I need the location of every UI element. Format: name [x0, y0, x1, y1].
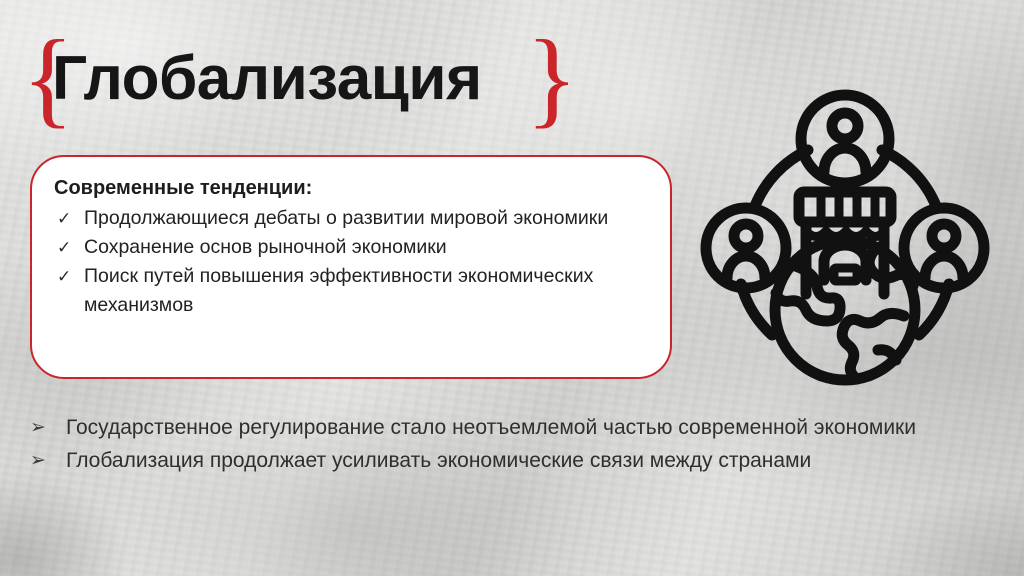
- list-item-label: Поиск путей повышения эффективности экон…: [84, 265, 593, 316]
- check-icon: ✓: [57, 204, 71, 233]
- list-item-label: Государственное регулирование стало неот…: [66, 416, 916, 439]
- right-brace-decoration: }: [526, 25, 578, 133]
- global-market-network-icon: [700, 88, 990, 398]
- arrow-bullet-icon: ➢: [30, 445, 46, 476]
- person-circle-right-icon: [904, 208, 984, 288]
- list-item: ➢ Глобализация продолжает усиливать экон…: [24, 445, 944, 476]
- globe-icon: [775, 240, 915, 380]
- conclusions-list: ➢ Государственное регулирование стало не…: [24, 412, 944, 478]
- trends-list: ✓ Продолжающиеся дебаты о развитии миров…: [54, 204, 654, 320]
- person-circle-left-icon: [706, 208, 786, 288]
- trends-heading: Современные тенденции:: [54, 175, 654, 201]
- list-item-label: Продолжающиеся дебаты о развитии мировой…: [84, 207, 608, 229]
- list-item-label: Сохранение основ рыночной экономики: [84, 236, 447, 258]
- list-item: ✓ Сохранение основ рыночной экономики: [54, 233, 654, 262]
- trends-card-content: Современные тенденции: ✓ Продолжающиеся …: [54, 175, 654, 320]
- slide-canvas: { Глобализация } Современные тенденции: …: [0, 0, 1024, 576]
- list-item-label: Глобализация продолжает усиливать эконом…: [66, 449, 811, 472]
- list-item: ➢ Государственное регулирование стало не…: [24, 412, 944, 443]
- person-circle-top-icon: [801, 95, 889, 183]
- list-item: ✓ Продолжающиеся дебаты о развитии миров…: [54, 204, 654, 233]
- check-icon: ✓: [57, 233, 71, 262]
- page-title: Глобализация: [52, 48, 482, 110]
- list-item: ✓ Поиск путей повышения эффективности эк…: [54, 262, 654, 320]
- trends-card: Современные тенденции: ✓ Продолжающиеся …: [30, 155, 672, 379]
- arrow-bullet-icon: ➢: [30, 412, 46, 443]
- check-icon: ✓: [57, 262, 71, 291]
- page-title-block: { Глобализация }: [14, 30, 554, 128]
